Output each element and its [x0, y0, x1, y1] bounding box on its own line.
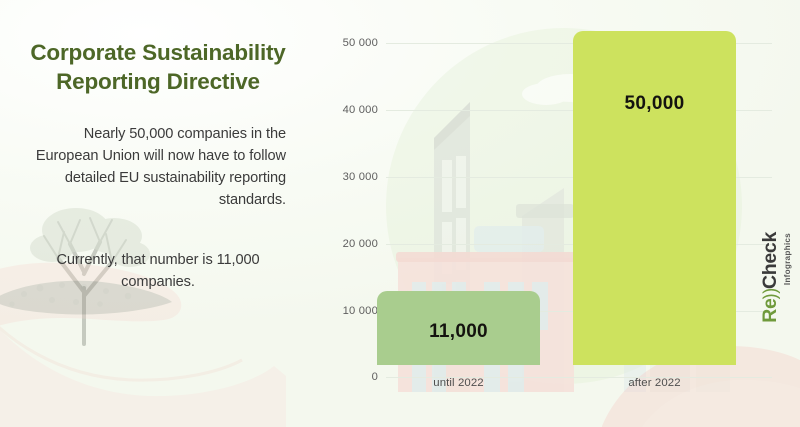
- signal-arc-icon: )): [760, 288, 781, 299]
- text-column: Corporate Sustainability Reporting Direc…: [0, 0, 312, 427]
- recheck-logo[interactable]: Re )) Check Infographics: [695, 289, 800, 335]
- y-axis-tick-10000: 10 000: [320, 305, 378, 317]
- body-paragraph-primary: Nearly 50,000 companies in the European …: [30, 123, 286, 212]
- y-axis-tick-40000: 40 000: [320, 104, 378, 116]
- logo-check-text: Check: [759, 232, 782, 289]
- x-axis-tick-until-2022: until 2022: [377, 377, 540, 389]
- y-axis-tick-30000: 30 000: [320, 171, 378, 183]
- bar-until-2022[interactable]: 11,000: [377, 291, 540, 365]
- x-axis-tick-after-2022: after 2022: [573, 377, 736, 389]
- infographic-canvas: Corporate Sustainability Reporting Direc…: [0, 0, 800, 427]
- bar-value-label: 11,000: [377, 321, 540, 343]
- bar-value-label: 50,000: [573, 93, 736, 115]
- logo-subtitle: Infographics: [783, 233, 792, 285]
- body-paragraph-secondary: Currently, that number is 11,000 compani…: [30, 249, 286, 293]
- y-axis-tick-20000: 20 000: [320, 238, 378, 250]
- page-title: Corporate Sustainability Reporting Direc…: [30, 38, 286, 97]
- bar-chart: 50 000 40 000 30 000 20 000 10 000 0 11,…: [320, 20, 760, 415]
- y-axis-tick-0: 0: [320, 371, 378, 383]
- logo-wordmark: Re )) Check: [759, 232, 782, 323]
- y-axis-tick-50000: 50 000: [320, 37, 378, 49]
- logo-re-text: Re: [759, 298, 782, 322]
